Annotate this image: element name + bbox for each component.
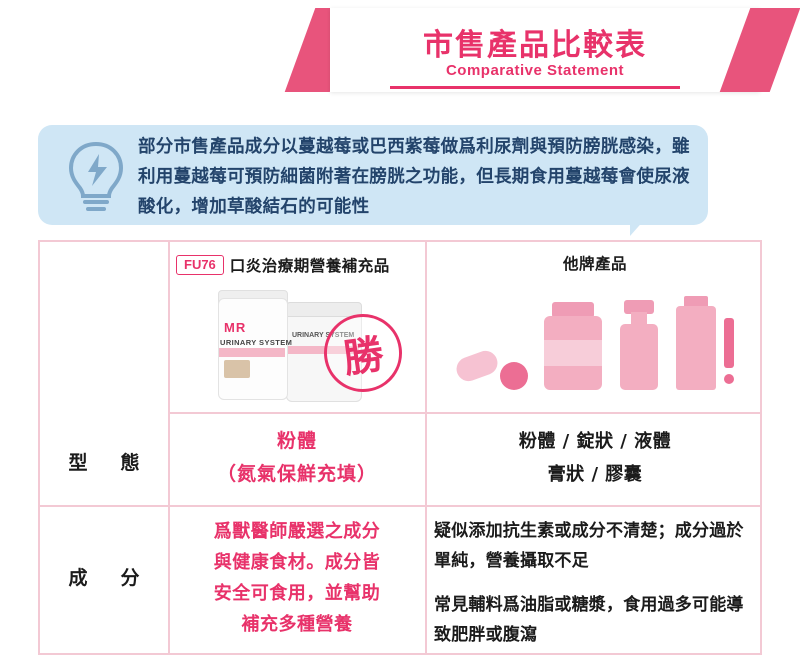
cell-product-ingredients: 爲獸醫師嚴選之成分 與健康食材。成分皆 安全可食用，並幫助 補充多種營養: [176, 516, 418, 640]
other-column-header: 他牌產品: [430, 252, 760, 274]
cell-product-form-line2: （氮氣保鮮充填）: [176, 458, 418, 491]
cell-product-form-line1: 粉體: [176, 425, 418, 458]
callout-text: 部分市售產品成分以蔓越莓或巴西紫莓做爲利尿劑與預防膀胱感染，雖利用蔓越莓可預防細…: [138, 132, 694, 222]
jar-label: [544, 340, 602, 366]
product-column-title: 口炎治療期營養補充品: [230, 254, 390, 276]
row-label-form: 型 態: [40, 448, 168, 475]
table-row-divider-2: [38, 505, 762, 507]
product-photo: URINARY SYSTEM MR URINARY SYSTEM 勝: [200, 288, 400, 403]
cell-product-ingredients-line2: 與健康食材。成分皆: [176, 547, 418, 578]
product-brand-subtext: URINARY SYSTEM: [220, 338, 292, 347]
product-brand-text: MR: [224, 320, 246, 335]
header-banner: 市售產品比較表 Comparative Statement: [0, 0, 800, 110]
page-subtitle: Comparative Statement: [360, 62, 710, 79]
cell-product-form: 粉體 （氮氣保鮮充填）: [176, 425, 418, 491]
cell-other-ingredients: 疑似添加抗生素或成分不清楚；成分過於單純，營養攝取不足 常見輔料爲油脂或糖漿，食…: [434, 516, 758, 650]
product-label-photo: [224, 360, 250, 378]
title-underline: [390, 86, 680, 89]
table-label-column-divider: [168, 240, 170, 655]
cell-product-ingredients-line3: 安全可食用，並幫助: [176, 578, 418, 609]
table-column-divider: [425, 240, 427, 655]
other-products-illustration: [448, 288, 748, 406]
row-label-ingredients: 成 分: [40, 563, 168, 590]
cell-product-ingredients-line4: 補充多種營養: [176, 609, 418, 640]
cell-other-ingredients-para1: 疑似添加抗生素或成分不清楚；成分過於單純，營養攝取不足: [434, 516, 758, 576]
paragraph-gap: [434, 576, 758, 590]
cell-product-ingredients-line1: 爲獸醫師嚴選之成分: [176, 516, 418, 547]
cell-other-form: 粉體 / 錠狀 / 液體 膏狀 / 膠囊: [432, 425, 758, 491]
cell-other-form-line1: 粉體 / 錠狀 / 液體: [432, 425, 758, 458]
page-title: 市售產品比較表: [360, 20, 710, 64]
dropper-bottle-icon: [620, 324, 658, 390]
exclamation-icon: [724, 318, 734, 368]
product-column-header: FU76 口炎治療期營養補充品: [176, 252, 421, 278]
capsule-icon: [453, 348, 501, 385]
lightbulb-icon: [62, 138, 130, 214]
tube-icon: [676, 306, 716, 390]
product-label-stripe: [219, 348, 285, 357]
table-row-divider-1: [168, 412, 762, 414]
cell-other-form-line2: 膏狀 / 膠囊: [432, 458, 758, 491]
exclamation-dot-icon: [724, 374, 734, 384]
cell-other-ingredients-para2: 常見輔料爲油脂或糖漿，食用過多可能導致肥胖或腹瀉: [434, 590, 758, 650]
fu76-badge: FU76: [176, 255, 224, 275]
tablet-icon: [500, 362, 528, 390]
